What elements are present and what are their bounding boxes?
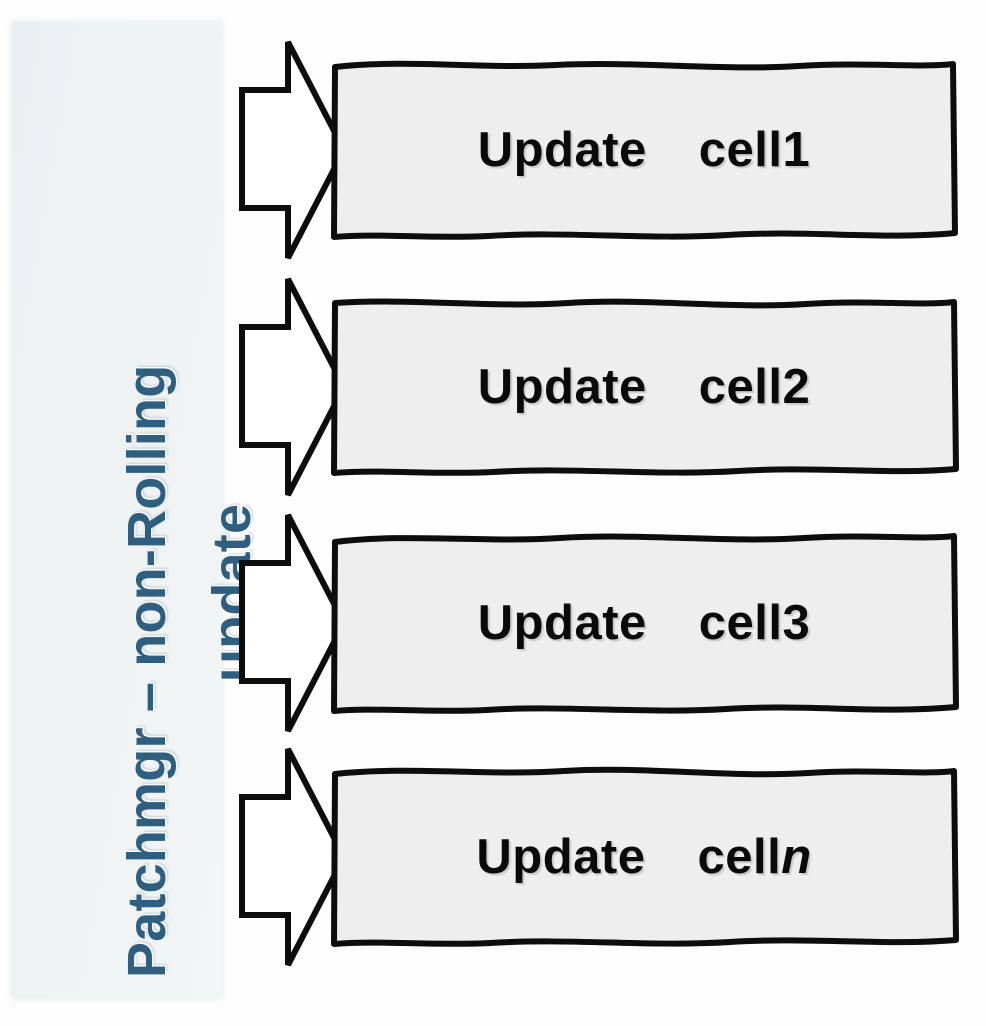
patchmgr-banner-panel: Patchmgr – non-Rolling update xyxy=(12,22,222,998)
update-row-4: Update celln xyxy=(236,742,976,972)
banner-label-stack: Patchmgr – non-Rolling update xyxy=(12,22,222,998)
update-box-1[interactable]: Update cell1 xyxy=(328,55,960,245)
update-box-3[interactable]: Update cell3 xyxy=(328,528,960,718)
update-box-4[interactable]: Update celln xyxy=(328,762,960,952)
update-row-3: Update cell3 xyxy=(236,508,976,738)
update-box-2[interactable]: Update cell2 xyxy=(328,292,960,482)
banner-title-line-1: Patchmgr – non-Rolling xyxy=(120,365,174,978)
update-row-2: Update cell2 xyxy=(236,272,976,502)
diagram-canvas: Patchmgr – non-Rolling update Update cel… xyxy=(0,0,986,1026)
update-row-1: Update cell1 xyxy=(236,35,976,265)
